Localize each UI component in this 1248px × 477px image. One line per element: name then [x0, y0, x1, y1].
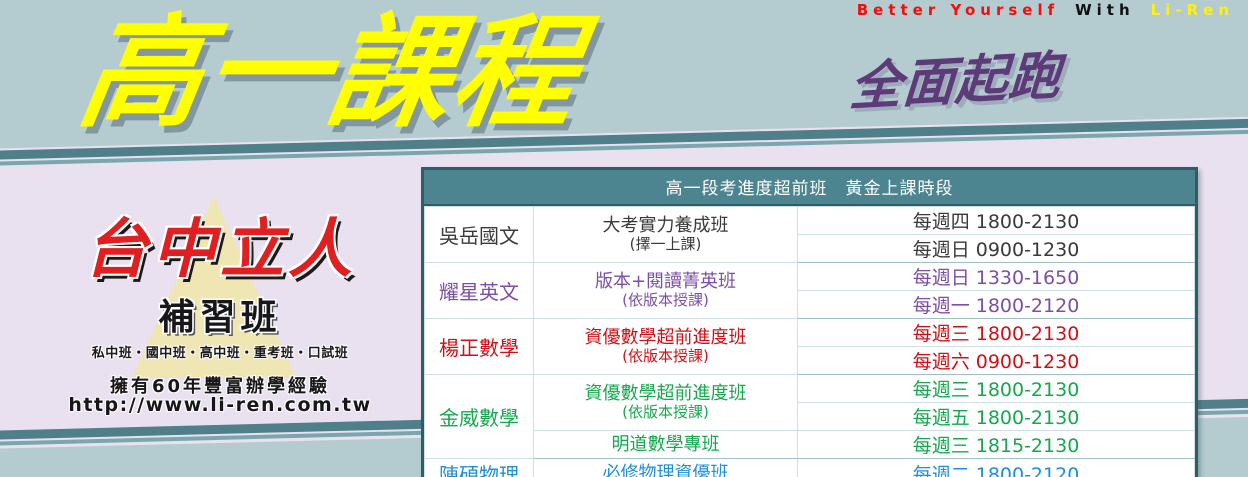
course-name: 資優數學超前進度班 — [534, 383, 797, 404]
course-note: (擇一上課) — [534, 236, 797, 254]
tagline: Better YourselfWithLi-Ren — [857, 1, 1234, 19]
time-cell: 每週日 0900-1230 — [798, 235, 1195, 263]
logo: 台中立人 補習班 私中班・國中班・高中班・重考班・口試班 擁有60年豐富辦學經驗… — [40, 196, 400, 426]
page-subtitle: 全面起跑 — [848, 50, 1063, 114]
course-cell: 必修物理資優班 — [534, 459, 798, 477]
course-cell: 資優數學超前進度班(依版本授課) — [534, 319, 798, 375]
course-name: 大考實力養成班 — [534, 215, 797, 236]
time-cell: 每週三 1815-2130 — [798, 431, 1195, 459]
tagline-part-3: Li-Ren — [1151, 1, 1234, 19]
logo-website-url: http://www.li-ren.com.tw — [40, 394, 400, 416]
time-cell: 每週一 1800-2120 — [798, 291, 1195, 319]
logo-name-secondary: 補習班 — [40, 300, 400, 336]
teacher-cell: 金威數學 — [425, 375, 534, 459]
schedule-table: 高一段考進度超前班 黃金上課時段 吳岳國文大考實力養成班(擇一上課)每週四 18… — [421, 167, 1198, 477]
teacher-cell: 吳岳國文 — [425, 207, 534, 263]
course-cell: 資優數學超前進度班(依版本授課) — [534, 375, 798, 431]
schedule-header: 高一段考進度超前班 黃金上課時段 — [424, 170, 1195, 206]
schedule-body: 吳岳國文大考實力養成班(擇一上課)每週四 1800-2130每週日 0900-1… — [424, 206, 1195, 477]
logo-class-list: 私中班・國中班・高中班・重考班・口試班 — [40, 342, 400, 361]
teacher-cell: 楊正數學 — [425, 319, 534, 375]
time-cell: 每週日 1330-1650 — [798, 263, 1195, 291]
course-cell: 大考實力養成班(擇一上課) — [534, 207, 798, 263]
page-title: 高一課程 — [72, 12, 587, 134]
tagline-part-1: Better Yourself — [857, 1, 1059, 19]
poster-canvas: Better YourselfWithLi-Ren 高一課程 全面起跑 台中立人… — [0, 0, 1248, 477]
table-row: 陳碩物理必修物理資優班每週二 1800-2120 — [425, 459, 1195, 477]
time-cell: 每週六 0900-1230 — [798, 347, 1195, 375]
table-row: 吳岳國文大考實力養成班(擇一上課)每週四 1800-2130 — [425, 207, 1195, 235]
course-name: 版本+閱讀菁英班 — [534, 271, 797, 292]
course-note: (依版本授課) — [534, 292, 797, 310]
time-cell: 每週二 1800-2120 — [798, 459, 1195, 477]
table-row: 楊正數學資優數學超前進度班(依版本授課)每週三 1800-2130 — [425, 319, 1195, 347]
time-cell: 每週五 1800-2130 — [798, 403, 1195, 431]
time-cell: 每週三 1800-2130 — [798, 375, 1195, 403]
course-name: 必修物理資優班 — [534, 463, 797, 477]
course-name: 資優數學超前進度班 — [534, 327, 797, 348]
table-row: 金威數學資優數學超前進度班(依版本授課)每週三 1800-2130 — [425, 375, 1195, 403]
time-cell: 每週四 1800-2130 — [798, 207, 1195, 235]
course-cell: 版本+閱讀菁英班(依版本授課) — [534, 263, 798, 319]
course-note: (依版本授課) — [534, 404, 797, 422]
table-row: 明道數學專班每週三 1815-2130 — [425, 431, 1195, 459]
course-note: (依版本授課) — [534, 348, 797, 366]
tagline-part-2: With — [1075, 1, 1135, 19]
teacher-cell: 耀星英文 — [425, 263, 534, 319]
table-row: 耀星英文版本+閱讀菁英班(依版本授課)每週日 1330-1650 — [425, 263, 1195, 291]
teacher-cell: 陳碩物理 — [425, 459, 534, 477]
course-cell: 明道數學專班 — [534, 431, 798, 459]
logo-name: 台中立人 — [40, 218, 400, 282]
time-cell: 每週三 1800-2130 — [798, 319, 1195, 347]
